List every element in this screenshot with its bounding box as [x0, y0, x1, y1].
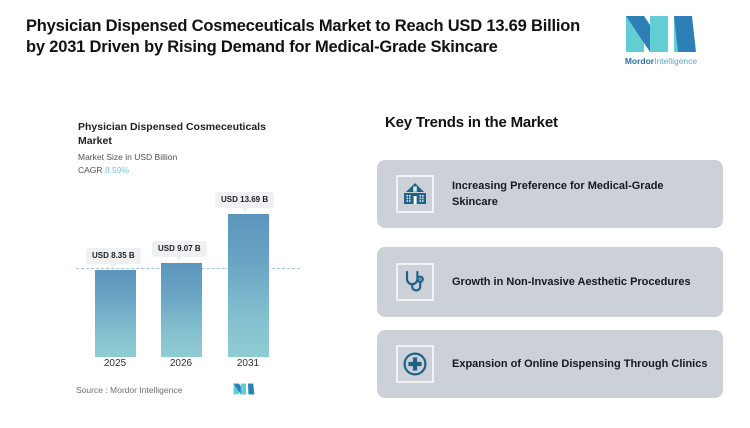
brand-name-bold: Mordor: [625, 56, 654, 66]
axis-tick-2031: [228, 355, 269, 357]
x-axis-label-2026: 2026: [151, 358, 211, 369]
chart-source: Source : Mordor Intelligence: [76, 385, 182, 395]
trend-card-3[interactable]: Expansion of Online Dispensing Through C…: [377, 330, 723, 398]
trend-card-2-text: Growth in Non-Invasive Aesthetic Procedu…: [452, 274, 691, 290]
infographic-root: Physician Dispensed Cosmeceuticals Marke…: [0, 0, 750, 428]
brand-name-light: Intelligence: [654, 56, 697, 66]
data-label-2026: USD 9.07 B: [152, 241, 207, 257]
hospital-icon: [396, 175, 434, 213]
brand-logo-text: MordorIntelligence: [600, 56, 722, 66]
trend-card-1[interactable]: Increasing Preference for Medical-Grade …: [377, 160, 723, 228]
data-label-2031: USD 13.69 B: [215, 192, 274, 208]
x-axis-label-2031: 2031: [218, 358, 278, 369]
axis-tick-2026: [161, 355, 202, 357]
bar-chart-plot: USD 8.35 B USD 9.07 B USD 13.69 B 2025 2…: [0, 100, 345, 420]
trend-card-2[interactable]: Growth in Non-Invasive Aesthetic Procedu…: [377, 247, 723, 317]
brand-logo: MordorIntelligence: [600, 14, 722, 72]
bar-2025: [95, 270, 136, 355]
trend-card-1-text: Increasing Preference for Medical-Grade …: [452, 178, 709, 210]
page-title: Physician Dispensed Cosmeceuticals Marke…: [26, 16, 586, 58]
bar-2031: [228, 214, 269, 355]
trends-heading: Key Trends in the Market: [385, 114, 558, 131]
medical-cross-circle-icon: [396, 345, 434, 383]
bar-2026: [161, 263, 202, 355]
axis-tick-2025: [95, 355, 136, 357]
mordor-intelligence-logo-icon: [624, 14, 698, 54]
data-label-2025: USD 8.35 B: [86, 248, 141, 264]
mordor-intelligence-mark-icon: [233, 382, 255, 396]
trend-card-3-text: Expansion of Online Dispensing Through C…: [452, 356, 707, 372]
chart-panel: Physician Dispensed Cosmeceuticals Marke…: [0, 100, 345, 420]
x-axis-label-2025: 2025: [85, 358, 145, 369]
stethoscope-icon: [396, 263, 434, 301]
